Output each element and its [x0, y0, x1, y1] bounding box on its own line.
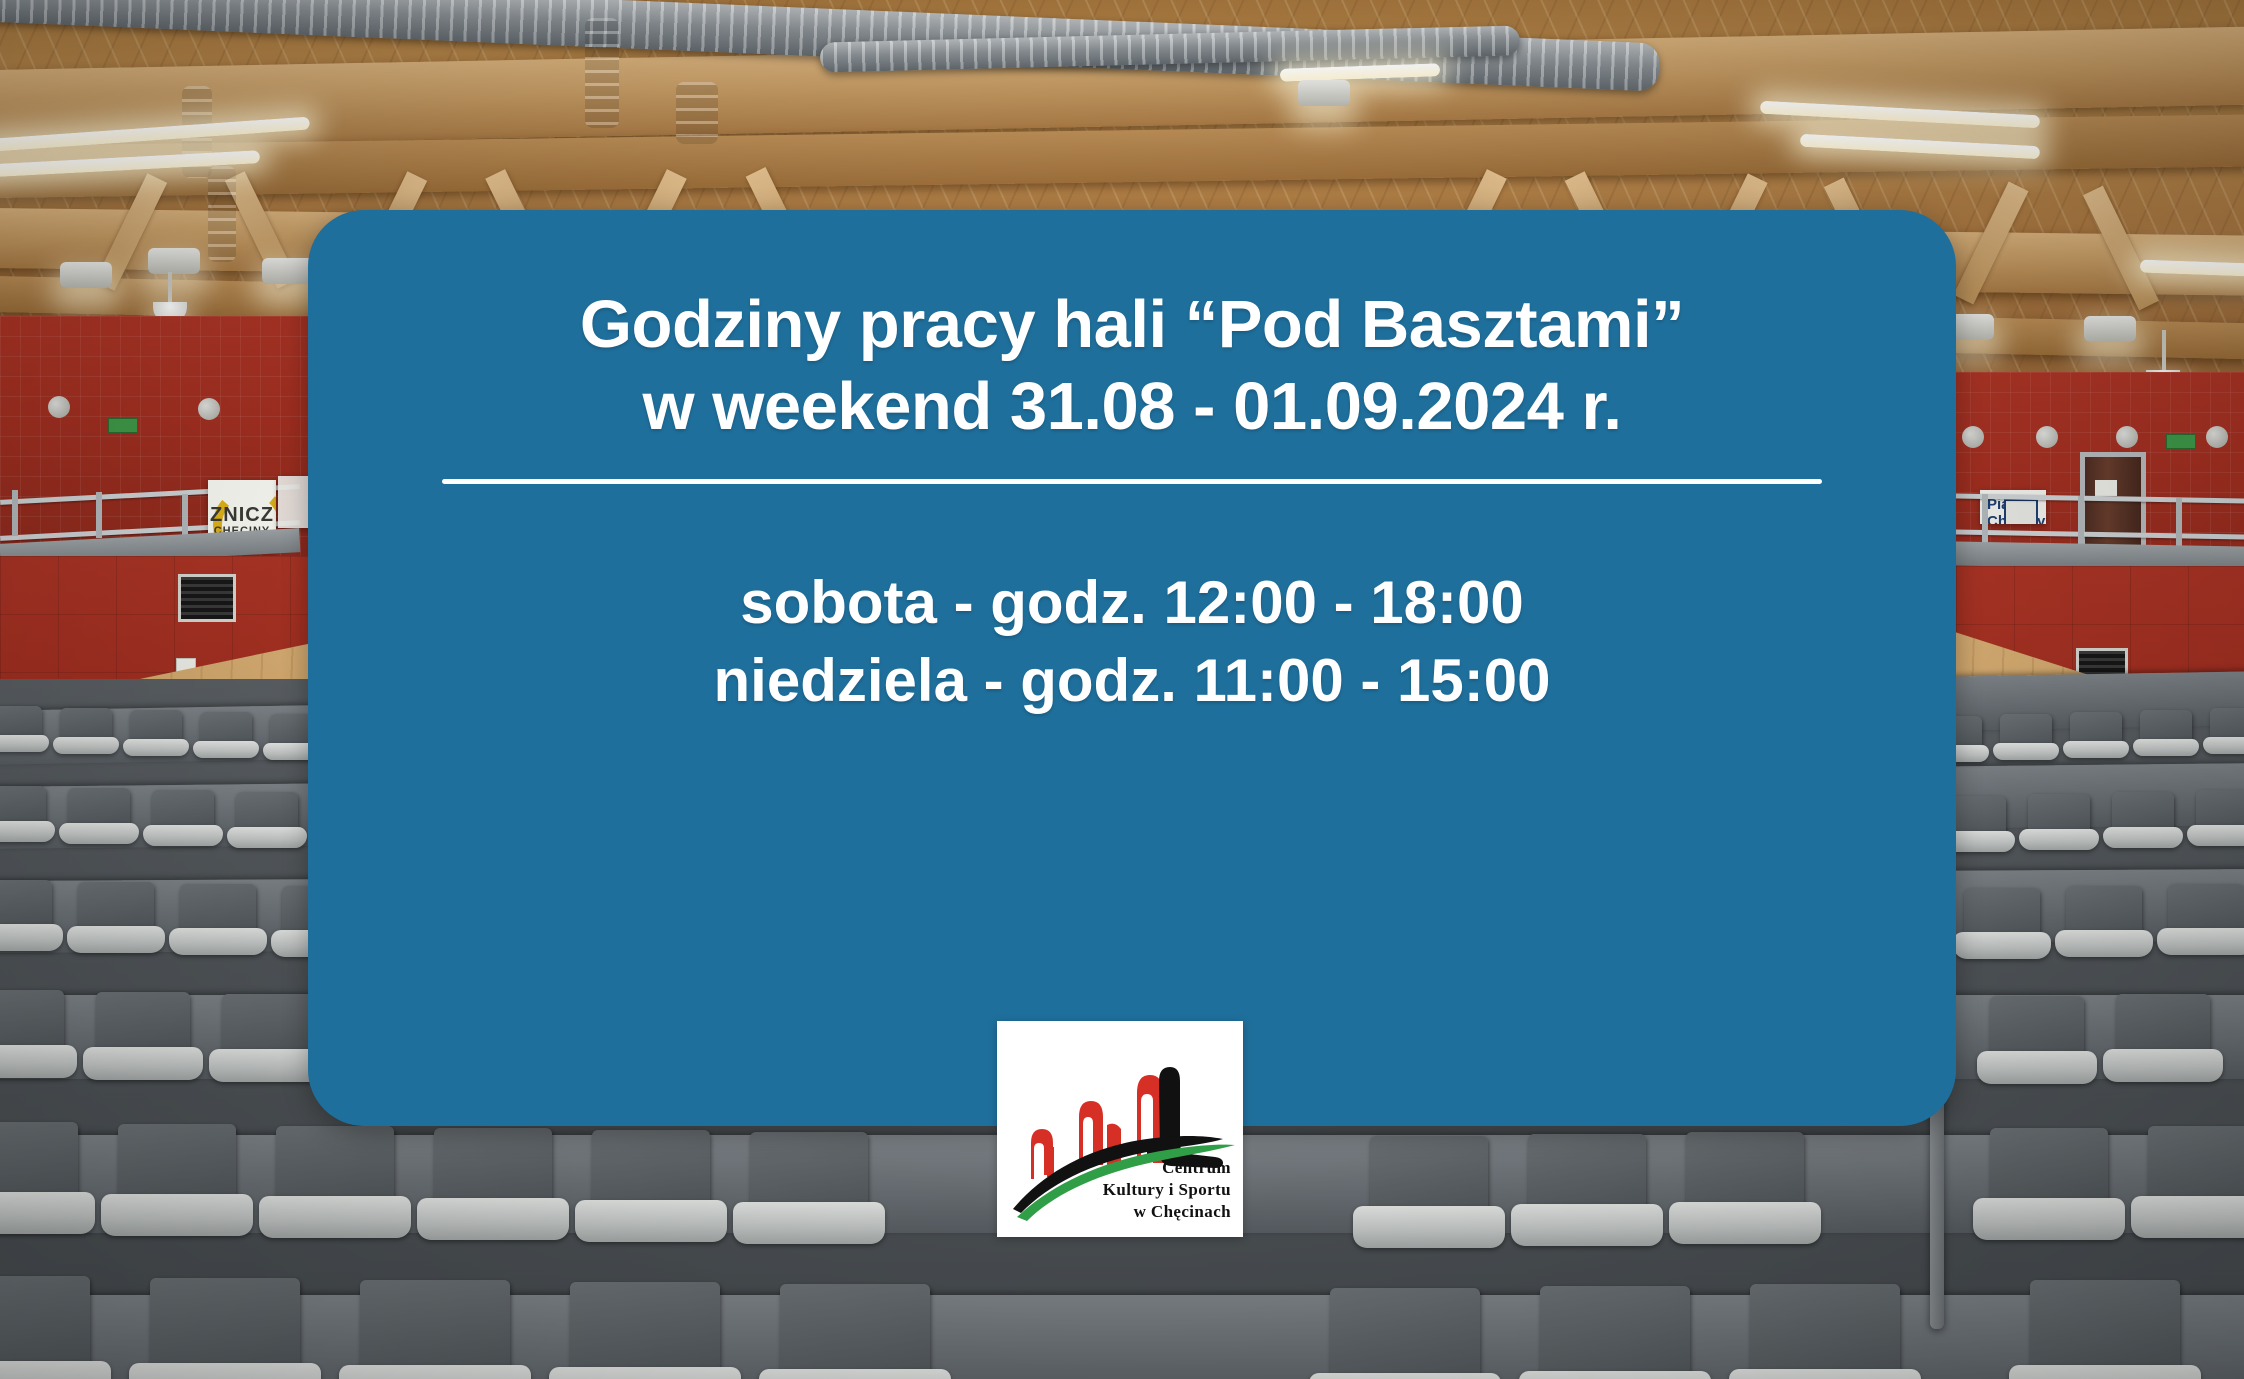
balcony-rail-post — [2176, 498, 2182, 548]
stadium-seat — [1964, 888, 2040, 946]
stadium-seat — [592, 1130, 710, 1222]
spot-light — [1298, 80, 1350, 106]
stadium-seat — [2210, 708, 2244, 746]
stadium-seat — [118, 1124, 236, 1216]
balcony-rail-post — [1982, 494, 1988, 544]
stadium-seat — [2148, 1126, 2244, 1218]
stadium-seat — [1750, 1284, 1900, 1379]
spot-light — [148, 248, 200, 274]
stadium-seat — [1990, 996, 2084, 1068]
stadium-seat — [0, 786, 46, 832]
stadium-seat — [2168, 884, 2244, 942]
stadium-seat — [750, 1132, 868, 1224]
opening-hours-sunday: niedziela - godz. 11:00 - 15:00 — [714, 642, 1551, 720]
stadium-seat — [60, 708, 112, 746]
stadium-seat — [0, 1122, 78, 1214]
title-divider — [442, 479, 1822, 484]
stand-step — [0, 1295, 2244, 1379]
info-card: Godziny pracy hali “Pod Basztami” w week… — [308, 210, 1956, 1126]
wall-vent-left — [178, 574, 236, 622]
stadium-seat — [180, 884, 256, 942]
exit-sign — [2166, 434, 2196, 449]
page-title: Godziny pracy hali “Pod Basztami” w week… — [540, 284, 1724, 447]
stadium-seat — [68, 788, 130, 834]
stadium-seat — [2000, 714, 2052, 752]
stadium-seat — [1330, 1288, 1480, 1379]
logo-name-line-3: w Chęcinach — [1103, 1201, 1231, 1223]
spot-light — [60, 262, 112, 288]
ventilation-duct-drop-far — [208, 166, 236, 262]
wall-speaker-dot — [48, 396, 70, 418]
balcony-rail-post — [2078, 496, 2084, 546]
stadium-seat — [2112, 792, 2174, 838]
stadium-seat — [1686, 1132, 1804, 1224]
stadium-seat — [78, 882, 154, 940]
wall-speaker-dot — [1962, 426, 1984, 448]
stadium-seat — [434, 1128, 552, 1220]
title-line-1: Godziny pracy hali “Pod Basztami” — [580, 287, 1684, 362]
wall-speaker-dot — [2116, 426, 2138, 448]
stadium-seat — [1370, 1136, 1488, 1228]
opening-hours-saturday: sobota - godz. 12:00 - 18:00 — [714, 564, 1551, 642]
exit-sign — [108, 418, 138, 433]
stadium-seat — [96, 992, 190, 1064]
stadium-seat — [2030, 1280, 2180, 1379]
stadium-seat — [2028, 794, 2090, 840]
tower-red-small-wall — [1047, 1147, 1054, 1177]
stadium-seat — [222, 994, 316, 1066]
piast-crest-icon — [2004, 499, 2038, 524]
ventilation-duct-drop-center — [585, 18, 619, 128]
stadium-seat — [0, 706, 42, 744]
stadium-seat — [152, 790, 214, 836]
stadium-seat — [0, 990, 64, 1062]
stadium-seat — [360, 1280, 510, 1379]
poster-canvas: ZNICZ CHĘCINY Piast Chęciny — [0, 0, 2244, 1379]
wall-speaker-dot — [2036, 426, 2058, 448]
stadium-seat — [130, 710, 182, 748]
stadium-seat — [1540, 1286, 1690, 1379]
stadium-seat — [2066, 886, 2142, 944]
door-sign — [2095, 480, 2117, 496]
balcony-rail-post — [96, 492, 102, 538]
info-card-content: Godziny pracy hali “Pod Basztami” w week… — [308, 210, 1956, 1126]
stadium-seat — [2116, 994, 2210, 1066]
logo-cks-checiny: Centrum Kultury i Sportu w Chęcinach — [997, 1021, 1243, 1237]
opening-hours-list: sobota - godz. 12:00 - 18:00 niedziela -… — [714, 564, 1551, 720]
stadium-seat — [2070, 712, 2122, 750]
stadium-seat — [1528, 1134, 1646, 1226]
stadium-seat — [200, 712, 252, 750]
stadium-seat — [150, 1278, 300, 1379]
ventilation-duct-drop-right — [676, 82, 718, 144]
stadium-seat — [2196, 790, 2244, 836]
stadium-seat — [0, 1276, 90, 1379]
wall-speaker-dot — [198, 398, 220, 420]
stadium-seat — [0, 880, 52, 938]
spot-light — [2084, 316, 2136, 342]
title-line-2: w weekend 31.08 - 01.09.2024 r. — [580, 366, 1684, 448]
stadium-seat — [780, 1284, 930, 1379]
stadium-seat — [570, 1282, 720, 1379]
logo-name-line-2: Kultury i Sportu — [1103, 1179, 1231, 1201]
stadium-seat — [276, 1126, 394, 1218]
spot-light — [262, 258, 314, 284]
balcony-rail-post — [12, 490, 18, 536]
logo-name-line-1: Centrum — [1103, 1157, 1231, 1179]
stadium-seat — [236, 792, 298, 838]
logo-name: Centrum Kultury i Sportu w Chęcinach — [1103, 1157, 1231, 1223]
wall-speaker-dot — [2206, 426, 2228, 448]
stadium-seat — [1990, 1128, 2108, 1220]
stadium-seat — [2140, 710, 2192, 748]
